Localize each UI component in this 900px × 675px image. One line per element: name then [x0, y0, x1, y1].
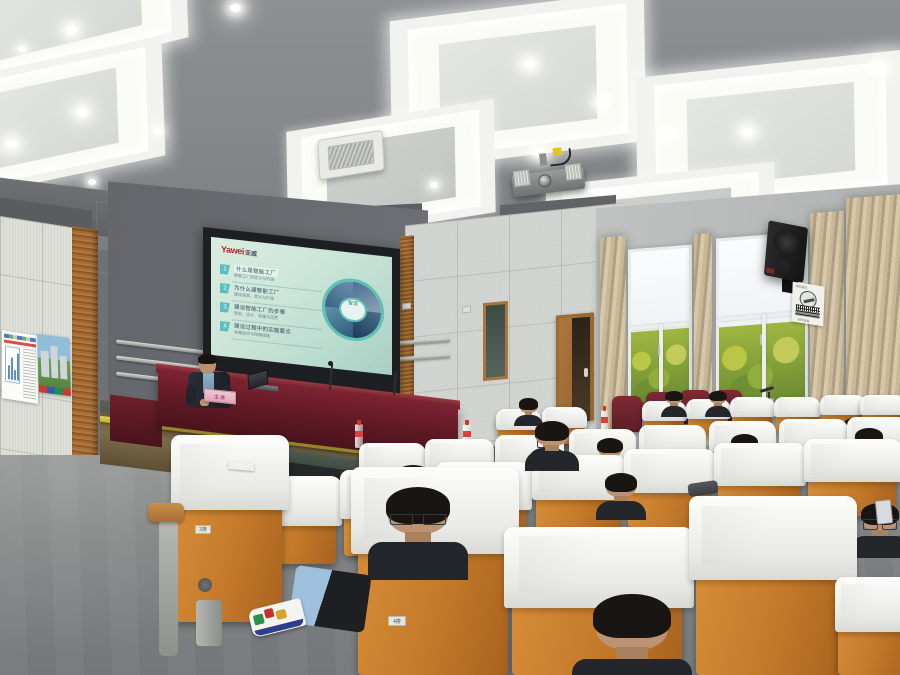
downlight — [154, 128, 162, 134]
projector-connector-icon — [552, 147, 562, 155]
seat-number-plate: 3排 — [195, 525, 211, 534]
nameplate-text: 主讲 — [205, 392, 235, 402]
back-chair[interactable] — [612, 396, 642, 432]
sign-bottom-text: 扫码查看 — [797, 317, 809, 323]
conference-hall-scene: 消防提示 扫码查看 Yawei亚威 1 什么是智能工厂 智能工厂的定义与内涵 2… — [0, 0, 900, 675]
audience-person — [666, 392, 682, 410]
seat-leg-base — [196, 600, 222, 646]
window-left — [628, 245, 692, 410]
presenter-laptop[interactable] — [248, 372, 278, 392]
seat-pivot-icon — [198, 578, 212, 592]
seat[interactable]: 3排 — [176, 452, 282, 622]
downlight — [664, 130, 675, 138]
desk-microphone-head — [328, 361, 333, 366]
seat-number-plate: 4排 — [388, 616, 406, 626]
audience-person — [536, 424, 568, 458]
podium-side-block — [110, 395, 162, 448]
speaker-brand-badge — [767, 267, 775, 274]
qr-code-icon — [796, 304, 820, 319]
downlight — [88, 179, 96, 185]
downlight — [742, 128, 753, 136]
speaker-cone-icon — [773, 227, 800, 257]
downlight — [66, 26, 77, 34]
wall-opening-window — [483, 301, 508, 381]
slide-item-number: 3 — [220, 302, 230, 313]
slide-photo-wheel: 智造 — [322, 275, 384, 344]
door-handle-icon[interactable] — [584, 368, 588, 377]
slide-surface: Yawei亚威 1 什么是智能工厂 智能工厂的定义与内涵 2 为什么建智能工厂 … — [211, 237, 392, 375]
audience-person — [710, 392, 726, 410]
poster-text-chart — [2, 330, 38, 404]
audience-person — [388, 492, 448, 556]
speaker-tweeter-icon — [778, 260, 791, 272]
slide-logo: Yawei亚威 — [221, 245, 257, 258]
slide-item-number: 1 — [220, 264, 230, 275]
slide-item-number: 4 — [220, 321, 230, 332]
audience-person — [606, 476, 636, 508]
audience-person — [520, 400, 537, 419]
projector-mount — [539, 153, 547, 166]
slide-logo-cn: 亚威 — [245, 251, 257, 258]
wall-loudspeaker — [764, 220, 808, 282]
downlight — [18, 46, 26, 52]
downlight — [230, 4, 241, 12]
downlight — [524, 60, 535, 68]
wood-slat-column — [400, 235, 414, 416]
seat[interactable] — [838, 586, 900, 675]
wall-notice-sign: 消防提示 扫码查看 — [791, 282, 824, 327]
downlight — [596, 98, 607, 106]
downlight — [6, 140, 17, 148]
wall-switch-plate[interactable] — [402, 303, 411, 310]
downlight — [430, 182, 438, 188]
sign-top-text: 消防提示 — [795, 284, 807, 290]
downlight — [874, 64, 885, 72]
slide-item-number: 2 — [220, 283, 230, 294]
poster-photo — [37, 334, 71, 396]
smartphone[interactable] — [875, 499, 893, 525]
seat[interactable] — [696, 512, 846, 675]
projection-screen[interactable]: Yawei亚威 1 什么是智能工厂 智能工厂的定义与内涵 2 为什么建智能工厂 … — [203, 227, 400, 394]
downlight — [76, 108, 87, 116]
desk-microphone-head — [392, 367, 397, 372]
wall-switch-plate[interactable] — [462, 306, 471, 314]
slide-logo-text: Yawei — [221, 244, 244, 257]
slide-agenda-list: 1 什么是智能工厂 智能工厂的定义与内涵 2 为什么建智能工厂 建设背景、意义与… — [220, 263, 318, 350]
audience-person — [596, 600, 668, 675]
